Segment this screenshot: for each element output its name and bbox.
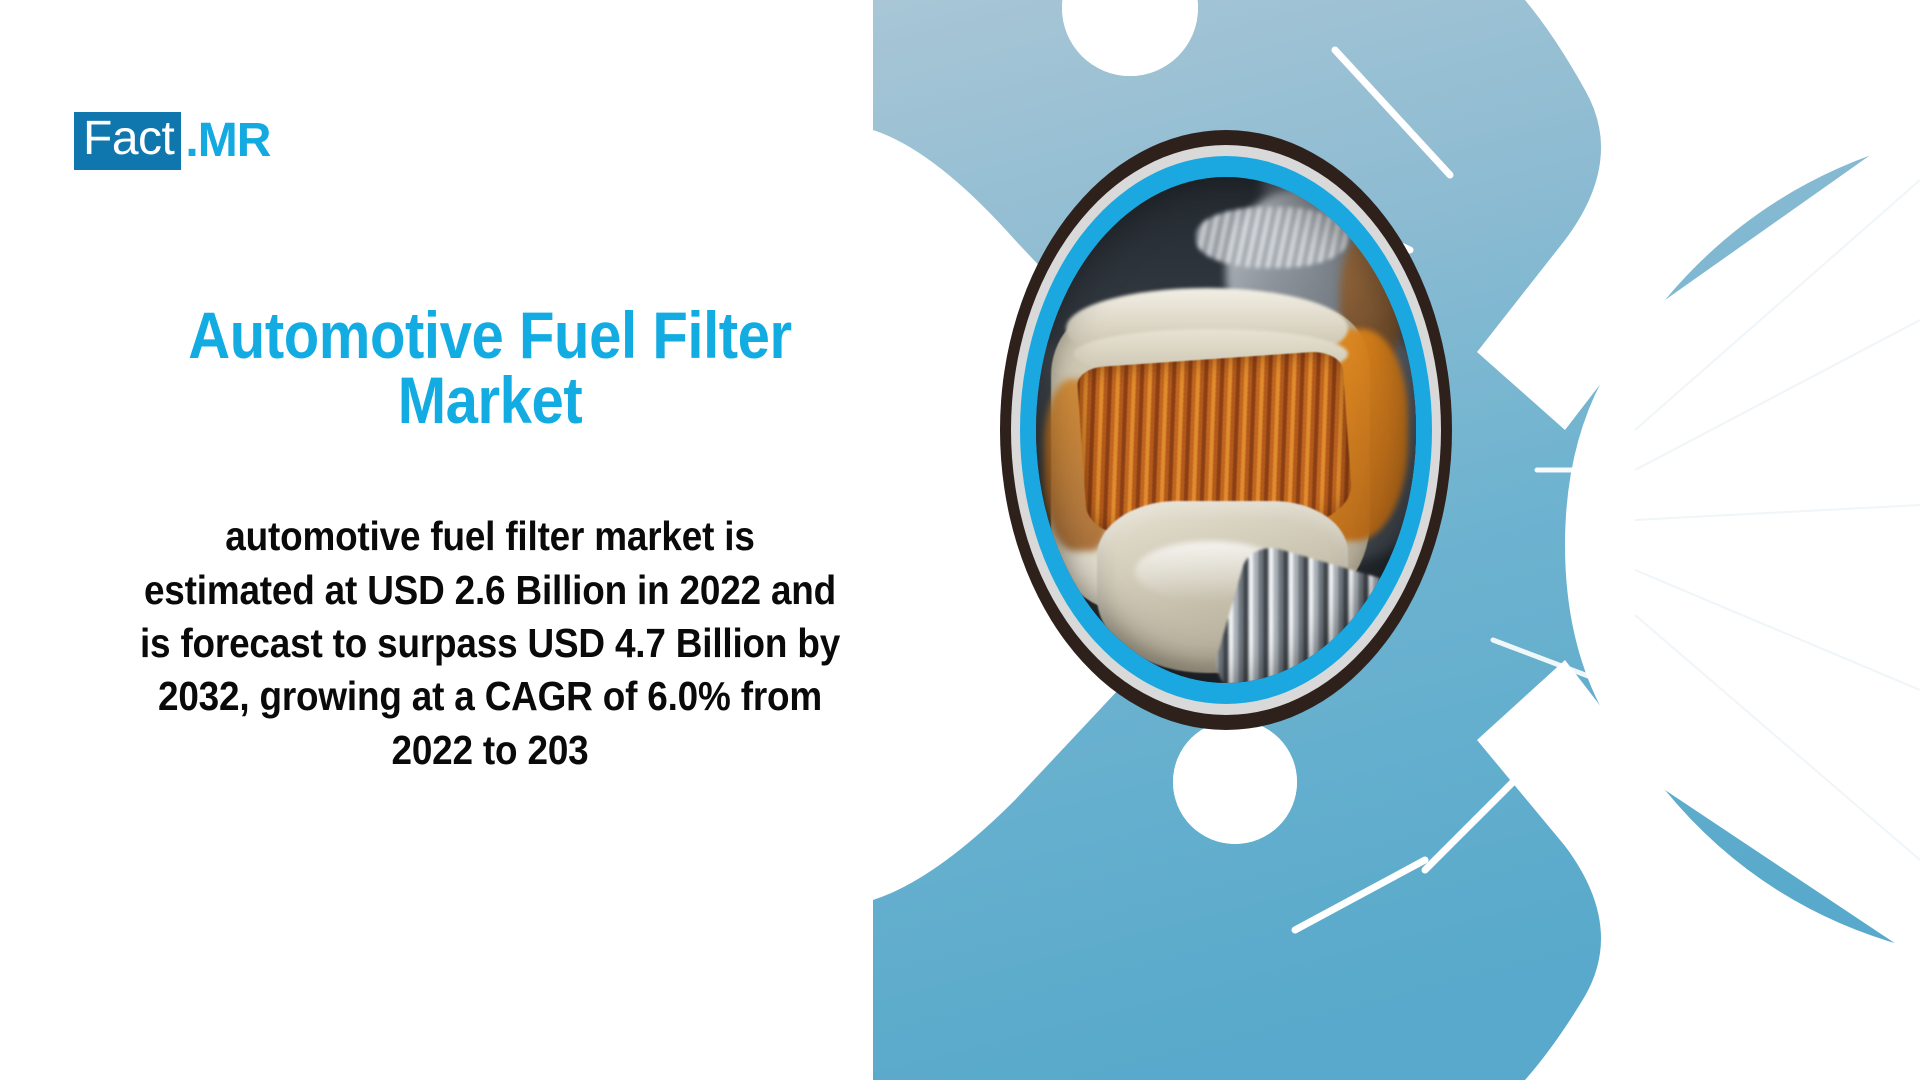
market-summary-text: automotive fuel filter market is estimat… — [139, 510, 841, 776]
infographic-canvas: Fact . MR Automotive Fuel Filter Market … — [0, 0, 1920, 1080]
fuel-filter-photo — [1036, 177, 1416, 683]
bottom-circle-notch — [1173, 720, 1297, 844]
text-column: Automotive Fuel Filter Market automotive… — [60, 0, 920, 1080]
circular-photo-badge — [1000, 130, 1452, 730]
page-title: Automotive Fuel Filter Market — [147, 303, 833, 432]
